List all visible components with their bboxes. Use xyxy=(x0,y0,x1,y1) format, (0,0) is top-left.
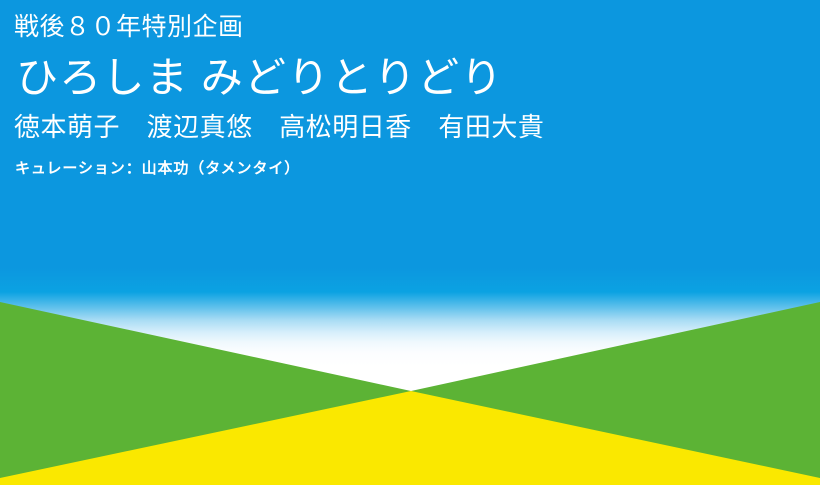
series-label: 戦後８０年特別企画 xyxy=(14,15,244,40)
exhibition-poster: 戦後８０年特別企画 ひろしま みどりとりどり 徳本萌子 渡辺真悠 高松明日香 有… xyxy=(0,0,820,485)
curation-credit: キュレーション：山本功（タメンタイ） xyxy=(15,161,300,176)
page-title: ひろしま みどりとりどり xyxy=(16,58,504,100)
artist-list: 徳本萌子 渡辺真悠 高松明日香 有田大貴 xyxy=(14,115,544,141)
